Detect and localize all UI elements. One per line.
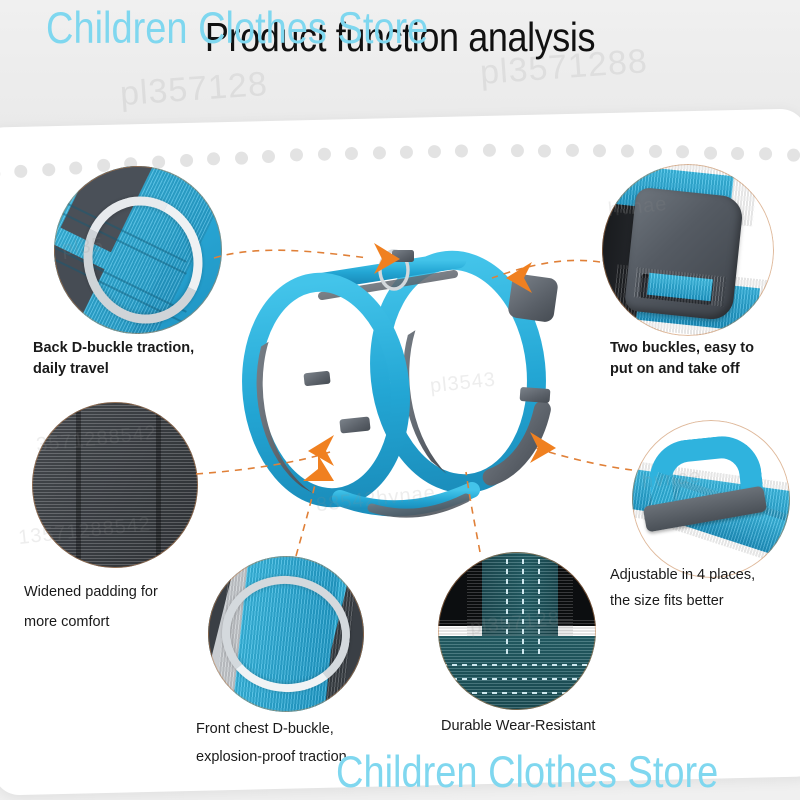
page-title: Product function analysis bbox=[0, 14, 800, 61]
photo-adjustable-slider bbox=[632, 420, 790, 578]
infographic-page: pl357128 pl3571288 pl35 3571288542 13571… bbox=[0, 0, 800, 800]
label-durable-wear-resistant: Durable Wear-Resistant bbox=[441, 716, 595, 737]
label-back-d-buckle: Back D-buckle traction, daily travel bbox=[33, 338, 194, 379]
label-adjustable: Adjustable in 4 places, the size fits be… bbox=[610, 562, 755, 614]
photo-front-chest-d-buckle bbox=[208, 556, 364, 712]
product-harness-image bbox=[222, 222, 592, 532]
label-two-buckles: Two buckles, easy to put on and take off bbox=[610, 338, 754, 379]
photo-back-d-buckle bbox=[54, 166, 222, 334]
photo-durable-webbing bbox=[438, 552, 596, 710]
photo-widened-padding bbox=[32, 402, 198, 568]
label-widened-padding: Widened padding for more comfort bbox=[24, 578, 158, 637]
content-layer: pl35 3571288542 13571288542 pl3543 88542… bbox=[0, 0, 800, 800]
photo-side-release-buckle bbox=[602, 164, 774, 336]
label-front-chest-d-buckle: Front chest D-buckle, explosion-proof tr… bbox=[196, 716, 347, 771]
